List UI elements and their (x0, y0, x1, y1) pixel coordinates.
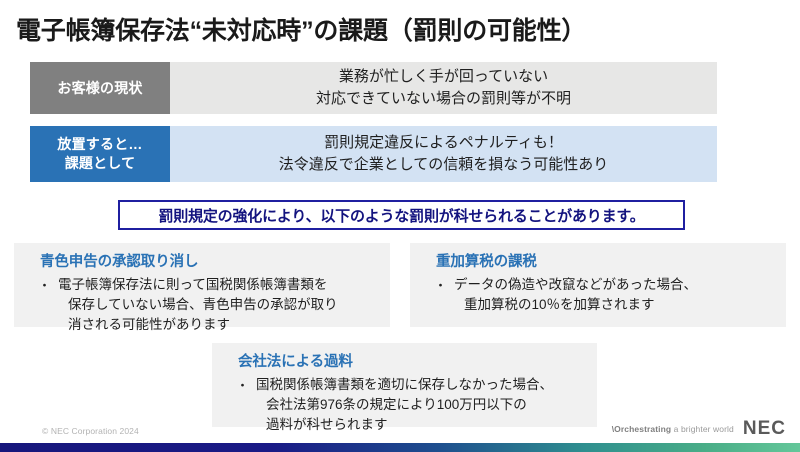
panel-bullet-line-2: 重加算税の10％を加算されます (454, 295, 774, 315)
nec-tagline-lead: \Orchestrating (612, 424, 672, 434)
footer-gradient-bar (0, 443, 800, 452)
panel-bullet-line-1: 電子帳簿保存法に則って国税関係帳簿書類を (58, 275, 378, 295)
panel-bullet: ・ データの偽造や改竄などがあった場合、 重加算税の10％を加算されます (422, 275, 774, 316)
band-risk-label-line-1: 放置すると… (57, 135, 142, 154)
panel-bullet-line-2: 保存していない場合、青色申告の承認が取り (58, 295, 378, 315)
band-risk-body: 罰則規定違反によるペナルティも！ 法令違反で企業としての信頼を損なう可能性あり (170, 126, 717, 182)
page-title: 電子帳簿保存法“未対応時”の課題（罰則の可能性） (16, 16, 776, 47)
panel-bullet-text: 電子帳簿保存法に則って国税関係帳簿書類を 保存していない場合、青色申告の承認が取… (58, 275, 378, 336)
panel-bullet-text: 国税関係帳簿書類を適切に保存しなかった場合、 会社法第976条の規定により100… (256, 375, 585, 436)
band-risk-line-2: 法令違反で企業としての信頼を損なう可能性あり (279, 154, 609, 176)
band-risk-line-1: 罰則規定違反によるペナルティも！ (279, 132, 609, 154)
panel-aoiro-shinkoku: 青色申告の承認取り消し ・ 電子帳簿保存法に則って国税関係帳簿書類を 保存してい… (14, 243, 390, 327)
band-current-line-2: 対応できていない場合の罰則等が不明 (316, 88, 571, 110)
panel-bullet-line-1: データの偽造や改竄などがあった場合、 (454, 275, 774, 295)
band-current-situation: お客様の現状 業務が忙しく手が回っていない 対応できていない場合の罰則等が不明 (30, 62, 717, 114)
panel-bullet-line-3: 消される可能性があります (58, 315, 378, 335)
panel-juka-sanzei: 重加算税の課税 ・ データの偽造や改竄などがあった場合、 重加算税の10％を加算… (410, 243, 786, 327)
panel-bullet-text: データの偽造や改竄などがあった場合、 重加算税の10％を加算されます (454, 275, 774, 316)
band-risk-label: 放置すると… 課題として (30, 126, 170, 182)
bullet-dot-icon: ・ (236, 375, 249, 396)
band-risk: 放置すると… 課題として 罰則規定違反によるペナルティも！ 法令違反で企業として… (30, 126, 717, 182)
callout-text: 罰則規定の強化により、以下のような罰則が科せられることがあります。 (158, 205, 644, 226)
panel-heading: 重加算税の課税 (436, 253, 774, 272)
panel-bullet-line-2: 会社法第976条の規定により100万円以下の (256, 395, 585, 415)
panel-bullet-line-3: 過料が科せられます (256, 415, 585, 435)
band-current-label: お客様の現状 (30, 62, 170, 114)
bullet-dot-icon: ・ (38, 275, 51, 296)
band-risk-label-line-2: 課題として (57, 154, 142, 173)
panel-bullet-line-1: 国税関係帳簿書類を適切に保存しなかった場合、 (256, 375, 585, 395)
footer-copyright: © NEC Corporation 2024 (42, 426, 139, 436)
panel-bullet: ・ 電子帳簿保存法に則って国税関係帳簿書類を 保存していない場合、青色申告の承認… (26, 275, 378, 336)
panel-bullet: ・ 国税関係帳簿書類を適切に保存しなかった場合、 会社法第976条の規定により1… (224, 375, 585, 436)
nec-tagline: \Orchestrating a brighter world (612, 424, 734, 434)
panel-heading: 会社法による過料 (238, 353, 585, 372)
callout-box: 罰則規定の強化により、以下のような罰則が科せられることがあります。 (118, 200, 685, 230)
panel-heading: 青色申告の承認取り消し (40, 253, 378, 272)
footer-logo: \Orchestrating a brighter world NEC (612, 419, 786, 438)
band-current-body: 業務が忙しく手が回っていない 対応できていない場合の罰則等が不明 (170, 62, 717, 114)
nec-tagline-rest: a brighter world (671, 424, 734, 434)
band-current-line-1: 業務が忙しく手が回っていない (316, 66, 571, 88)
nec-logo-wordmark: NEC (743, 419, 786, 438)
bullet-dot-icon: ・ (434, 275, 447, 296)
panel-kaishaho-karyo: 会社法による過料 ・ 国税関係帳簿書類を適切に保存しなかった場合、 会社法第97… (212, 343, 597, 427)
slide-canvas: 電子帳簿保存法“未対応時”の課題（罰則の可能性） お客様の現状 業務が忙しく手が… (0, 0, 800, 452)
